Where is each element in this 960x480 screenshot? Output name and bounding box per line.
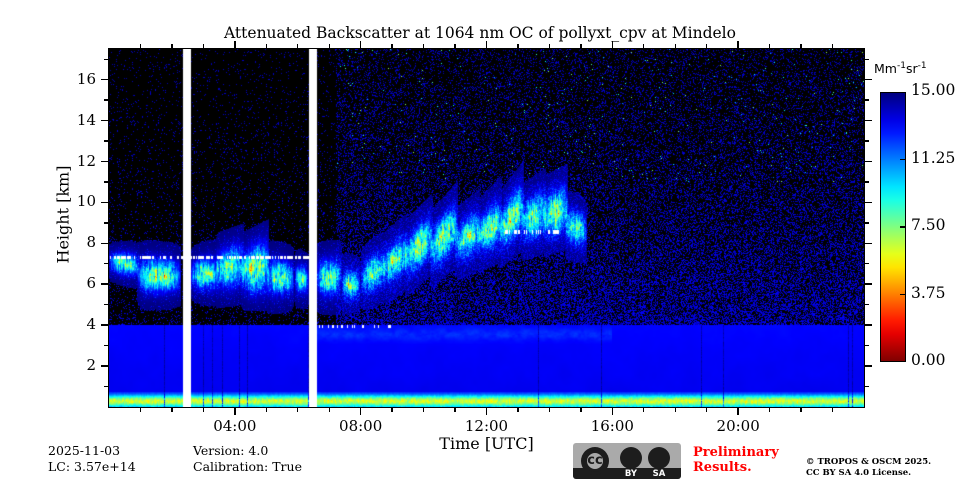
y-axis-minor-tick: [104, 140, 108, 141]
copyright-notice: © TROPOS & OSCM 2025. CC BY SA 4.0 Licen…: [806, 457, 931, 479]
x-axis-minor-tick-top: [423, 44, 424, 48]
copyright-line-2: CC BY SA 4.0 License.: [806, 468, 931, 479]
y-axis-minor-tick-right: [865, 345, 869, 346]
x-axis-minor-tick-top: [643, 44, 644, 48]
copyright-line-1: © TROPOS & OSCM 2025.: [806, 457, 931, 468]
creative-commons-badge: cc BY SA: [573, 443, 681, 479]
y-axis-label: Height [km]: [54, 135, 73, 295]
x-axis-minor-tick-top: [203, 44, 204, 48]
y-axis-tick: [101, 120, 108, 122]
x-axis-minor-tick: [171, 408, 172, 412]
y-axis-minor-tick: [104, 386, 108, 387]
x-axis-minor-tick: [423, 408, 424, 412]
y-axis-tick-right: [865, 283, 872, 285]
x-axis-minor-tick: [706, 408, 707, 412]
x-axis-minor-tick: [391, 408, 392, 412]
x-axis-minor-tick: [203, 408, 204, 412]
y-axis-minor-tick: [104, 263, 108, 264]
y-axis-tick-label: 14: [46, 111, 96, 129]
y-axis-minor-tick-right: [865, 140, 869, 141]
colorbar-tick-label: 3.75: [911, 284, 946, 302]
colorbar-units-label: Mm-1sr-1: [874, 61, 927, 76]
x-axis-minor-tick: [329, 408, 330, 412]
x-axis-minor-tick-top: [297, 44, 298, 48]
x-axis-minor-tick-top: [140, 44, 141, 48]
preliminary-line-2: Results.: [693, 460, 779, 475]
x-axis-minor-tick-top: [580, 44, 581, 48]
x-axis-minor-tick-top: [769, 44, 770, 48]
cc-sa-share-alike-icon: [648, 447, 670, 469]
colorbar-tick-label: 11.25: [911, 149, 955, 167]
y-axis-tick: [101, 324, 108, 326]
x-axis-tick-label: 08:00: [326, 417, 396, 435]
y-axis-minor-tick-right: [865, 59, 869, 60]
y-axis-minor-tick-right: [865, 99, 869, 100]
cc-by-person-icon: [620, 447, 642, 469]
x-axis-tick-top: [486, 41, 488, 48]
y-axis-tick-right: [865, 161, 872, 163]
cc-sa-label: SA: [648, 469, 670, 479]
x-axis-minor-tick-top: [549, 44, 550, 48]
x-axis-minor-tick: [454, 408, 455, 412]
colorbar-tick: [900, 294, 906, 296]
x-axis-tick: [486, 408, 488, 415]
x-axis-minor-tick-top: [266, 44, 267, 48]
x-axis-minor-tick: [832, 408, 833, 412]
x-axis-minor-tick: [580, 408, 581, 412]
colorbar-tick-label: 15.00: [911, 81, 955, 99]
x-axis-tick-label: 20:00: [703, 417, 773, 435]
colorbar-tick-label: 0.00: [911, 351, 946, 369]
y-axis-tick-right: [865, 120, 872, 122]
y-axis-minor-tick-right: [865, 222, 869, 223]
x-axis-minor-tick: [675, 408, 676, 412]
x-axis-minor-tick-top: [171, 44, 172, 48]
y-axis-tick: [101, 202, 108, 204]
x-axis-minor-tick: [517, 408, 518, 412]
x-axis-minor-tick-top: [800, 44, 801, 48]
y-axis-tick: [101, 161, 108, 163]
x-axis-tick-label: 16:00: [577, 417, 647, 435]
x-axis-tick: [612, 408, 614, 415]
x-axis-minor-tick: [297, 408, 298, 412]
y-axis-tick-right: [865, 243, 872, 245]
y-axis-minor-tick: [104, 345, 108, 346]
colorbar-tick: [900, 159, 906, 161]
x-axis-minor-tick: [643, 408, 644, 412]
footer-date: 2025-11-03: [48, 443, 120, 458]
x-axis-tick-top: [234, 41, 236, 48]
cc-logo-text: cc: [581, 453, 609, 468]
lidar-quicklook-figure: Attenuated Backscatter at 1064 nm OC of …: [0, 0, 960, 480]
y-axis-tick-label: 2: [46, 356, 96, 374]
preliminary-results-notice: Preliminary Results.: [693, 445, 779, 475]
y-axis-tick-label: 4: [46, 315, 96, 333]
y-axis-tick: [101, 365, 108, 367]
y-axis-tick: [101, 283, 108, 285]
x-axis-minor-tick-top: [675, 44, 676, 48]
y-axis-tick: [101, 79, 108, 81]
y-axis-minor-tick-right: [865, 386, 869, 387]
footer-calibration: Calibration: True: [193, 459, 302, 474]
x-axis-tick-top: [360, 41, 362, 48]
y-axis-minor-tick-right: [865, 181, 869, 182]
x-axis-tick-label: 12:00: [452, 417, 522, 435]
colorbar-tick-label: 7.50: [911, 216, 946, 234]
x-axis-minor-tick-top: [391, 44, 392, 48]
cc-by-label: BY: [620, 469, 642, 479]
preliminary-line-1: Preliminary: [693, 445, 779, 460]
x-axis-minor-tick: [769, 408, 770, 412]
x-axis-tick: [737, 408, 739, 415]
y-axis-tick-right: [865, 324, 872, 326]
y-axis-minor-tick: [104, 59, 108, 60]
y-axis-minor-tick: [104, 99, 108, 100]
x-axis-minor-tick: [266, 408, 267, 412]
y-axis-tick-right: [865, 365, 872, 367]
x-axis-minor-tick-top: [832, 44, 833, 48]
y-axis-minor-tick: [104, 222, 108, 223]
x-axis-tick: [360, 408, 362, 415]
x-axis-tick-top: [612, 41, 614, 48]
y-axis-minor-tick: [104, 304, 108, 305]
x-axis-minor-tick: [140, 408, 141, 412]
footer-version: Version: 4.0: [193, 443, 268, 458]
y-axis-minor-tick: [104, 181, 108, 182]
backscatter-heatmap: [109, 49, 864, 407]
figure-title: Attenuated Backscatter at 1064 nm OC of …: [0, 24, 960, 42]
y-axis-tick-right: [865, 202, 872, 204]
x-axis-minor-tick-top: [329, 44, 330, 48]
x-axis-tick-label: 04:00: [200, 417, 270, 435]
x-axis-minor-tick-top: [706, 44, 707, 48]
plot-area: [108, 48, 865, 408]
x-axis-minor-tick: [549, 408, 550, 412]
x-axis-tick-top: [737, 41, 739, 48]
x-axis-minor-tick-top: [517, 44, 518, 48]
y-axis-tick-right: [865, 79, 872, 81]
y-axis-minor-tick-right: [865, 263, 869, 264]
footer-lidar-constant: LC: 3.57e+14: [48, 459, 136, 474]
y-axis-tick: [101, 243, 108, 245]
colorbar-tick: [900, 226, 906, 228]
x-axis-tick: [234, 408, 236, 415]
x-axis-minor-tick: [800, 408, 801, 412]
x-axis-minor-tick-top: [454, 44, 455, 48]
y-axis-minor-tick-right: [865, 304, 869, 305]
y-axis-tick-label: 16: [46, 70, 96, 88]
